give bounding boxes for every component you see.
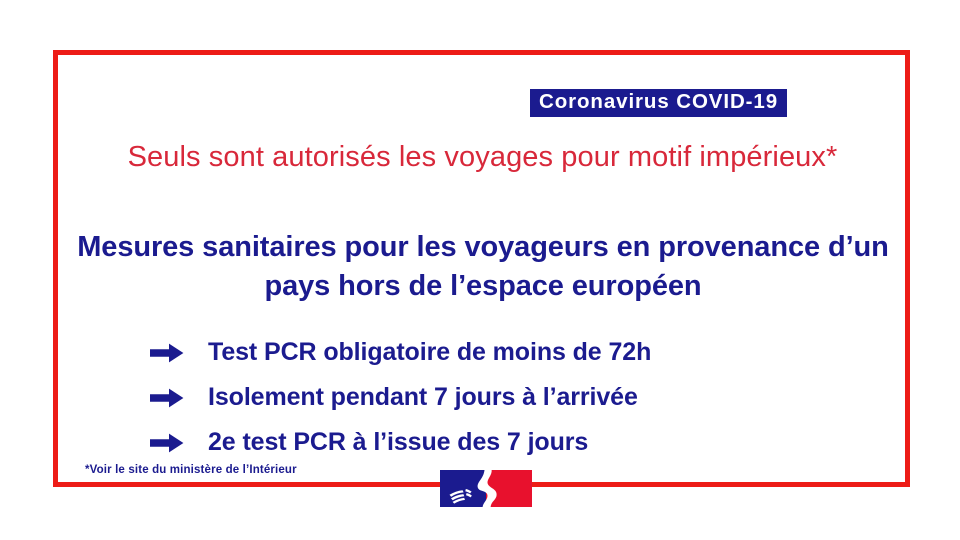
list-item-label: Test PCR obligatoire de moins de 72h — [208, 338, 651, 367]
right-arrow-icon — [150, 433, 208, 453]
marianne-french-republic-logo — [440, 470, 532, 507]
list-item: 2e test PCR à l’issue des 7 jours — [150, 420, 850, 465]
right-arrow-icon — [150, 388, 208, 408]
covid-travel-poster: Coronavirus COVID-19 Seuls sont autorisé… — [0, 0, 960, 540]
footnote-text: *Voir le site du ministère de l’Intérieu… — [85, 464, 297, 476]
coronavirus-banner: Coronavirus COVID-19 — [530, 89, 787, 117]
list-item-label: Isolement pendant 7 jours à l’arrivée — [208, 383, 638, 412]
right-arrow-icon — [150, 343, 208, 363]
headline-text: Seuls sont autorisés les voyages pour mo… — [110, 138, 855, 177]
list-item: Test PCR obligatoire de moins de 72h — [150, 330, 850, 375]
subtitle-text: Mesures sanitaires pour les voyageurs en… — [63, 228, 903, 306]
list-item: Isolement pendant 7 jours à l’arrivée — [150, 375, 850, 420]
measures-list: Test PCR obligatoire de moins de 72h Iso… — [150, 330, 850, 465]
banner-label: Coronavirus COVID-19 — [539, 92, 778, 113]
list-item-label: 2e test PCR à l’issue des 7 jours — [208, 428, 588, 457]
